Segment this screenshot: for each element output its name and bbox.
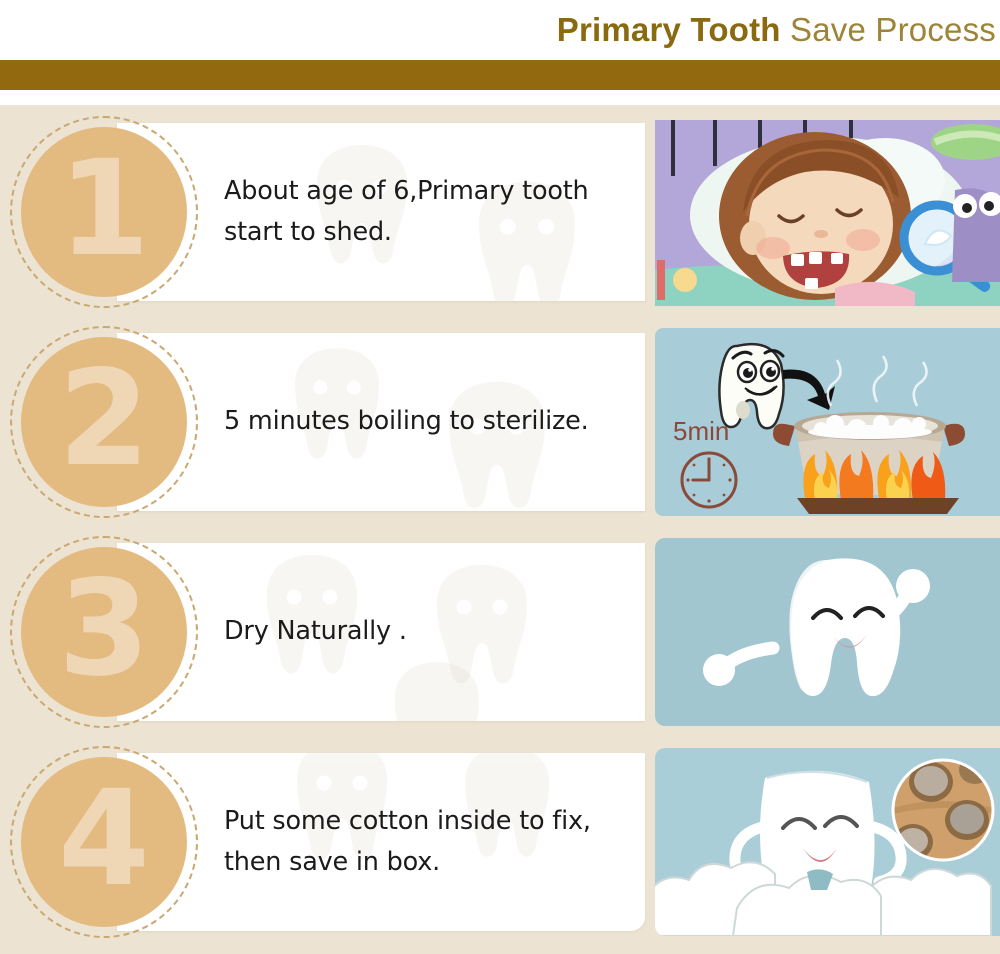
sleeping-child-missing-tooth-illustration (655, 120, 1000, 306)
step-number-badge-4: 4 (10, 746, 198, 938)
step-image-4 (655, 748, 1000, 936)
step-image-2: 5min (655, 328, 1000, 516)
badge-number: 3 (10, 536, 198, 728)
step-image-3 (655, 538, 1000, 726)
tooth-on-clouds-with-keepsake-box-inset (655, 748, 1000, 936)
happy-tooth-waving-illustration (655, 538, 1000, 726)
header-gold-divider-bar (0, 60, 1000, 90)
page-title: Primary Tooth Save Process (557, 11, 996, 49)
step-number-badge-2: 2 (10, 326, 198, 518)
step-text-line: then save in box. (224, 842, 627, 883)
boiling-pot-sterilize-illustration: 5min (655, 328, 1000, 516)
steps-container: About age of 6,Primary tooth start to sh… (0, 105, 1000, 954)
step-row-4: Put some cotton inside to fix, then save… (0, 742, 1000, 938)
page-title-strong: Primary Tooth (557, 11, 781, 48)
badge-number: 2 (10, 326, 198, 518)
step-text-line: Dry Naturally . (224, 611, 627, 652)
step-number-badge-3: 3 (10, 536, 198, 728)
step-text-line: start to shed. (224, 212, 627, 253)
badge-number: 1 (10, 116, 198, 308)
page-title-light: Save Process (790, 11, 996, 48)
step-row-3: Dry Naturally . 3 (0, 532, 1000, 728)
boiling-time-caption: 5min (673, 416, 729, 446)
header-white-gap (0, 90, 1000, 105)
step-row-2: 5 minutes boiling to sterilize. 2 (0, 322, 1000, 518)
step-row-1: About age of 6,Primary tooth start to sh… (0, 112, 1000, 308)
step-image-1 (655, 120, 1000, 306)
step-number-badge-1: 1 (10, 116, 198, 308)
badge-number: 4 (10, 746, 198, 938)
page-header: Primary Tooth Save Process (0, 0, 1000, 60)
step-text-line: Put some cotton inside to fix, (224, 801, 627, 842)
step-text-line: About age of 6,Primary tooth (224, 171, 627, 212)
step-text-line: 5 minutes boiling to sterilize. (224, 401, 627, 442)
